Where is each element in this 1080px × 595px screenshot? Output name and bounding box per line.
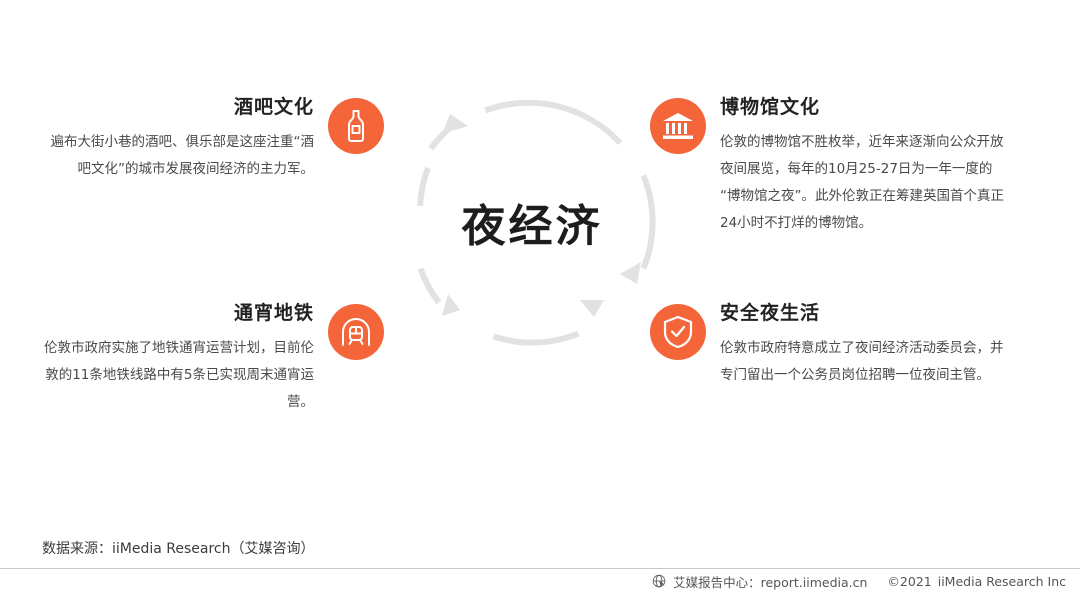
block-text: 博物馆文化 伦敦的博物馆不胜枚举，近年来逐渐向公众开放夜间展览，每年的10月25… <box>706 96 1010 237</box>
copyright-label: ©2021 <box>887 574 931 589</box>
block-heading: 博物馆文化 <box>720 96 1010 119</box>
block-text: 酒吧文化 遍布大街小巷的酒吧、俱乐部是这座注重“酒吧文化”的城市发展夜间经济的主… <box>42 96 328 183</box>
slide-root: 夜经济 酒吧文化 遍布大街小巷的酒吧、俱乐部是这座注重“酒吧文化”的城市发展夜间… <box>0 0 1080 595</box>
bottle-icon-badge <box>328 98 384 154</box>
block-body: 遍布大街小巷的酒吧、俱乐部是这座注重“酒吧文化”的城市发展夜间经济的主力军。 <box>42 129 314 183</box>
company-label: iiMedia Research Inc <box>938 574 1066 589</box>
footer-bar: 艾媒报告中心：report.iimedia.cn ©2021 iiMedia R… <box>652 572 1066 591</box>
block-heading: 安全夜生活 <box>720 302 1010 325</box>
block-body: 伦敦的博物馆不胜枚举，近年来逐渐向公众开放夜间展览，每年的10月25-27日为一… <box>720 129 1010 237</box>
block-museum-culture: 博物馆文化 伦敦的博物馆不胜枚举，近年来逐渐向公众开放夜间展览，每年的10月25… <box>650 96 1010 237</box>
shield-check-icon-badge <box>650 304 706 360</box>
block-all-night-subway: 通宵地铁 伦敦市政府实施了地铁通宵运营计划，目前伦敦的11条地铁线路中有5条已实… <box>42 302 387 416</box>
globe-cursor-icon <box>652 574 667 589</box>
block-text: 通宵地铁 伦敦市政府实施了地铁通宵运营计划，目前伦敦的11条地铁线路中有5条已实… <box>42 302 328 416</box>
museum-icon-badge <box>650 98 706 154</box>
center-ring: 夜经济 <box>398 88 666 356</box>
subway-icon-badge <box>328 304 384 360</box>
museum-icon <box>662 112 694 140</box>
center-title: 夜经济 <box>398 88 666 356</box>
footer-divider <box>0 568 1080 569</box>
block-safe-nightlife: 安全夜生活 伦敦市政府特意成立了夜间经济活动委员会，并专门留出一个公务员岗位招聘… <box>650 302 1010 389</box>
block-pub-culture: 酒吧文化 遍布大街小巷的酒吧、俱乐部是这座注重“酒吧文化”的城市发展夜间经济的主… <box>42 96 387 183</box>
block-text: 安全夜生活 伦敦市政府特意成立了夜间经济活动委员会，并专门留出一个公务员岗位招聘… <box>706 302 1010 389</box>
block-body: 伦敦市政府特意成立了夜间经济活动委员会，并专门留出一个公务员岗位招聘一位夜间主管… <box>720 335 1010 389</box>
block-body: 伦敦市政府实施了地铁通宵运营计划，目前伦敦的11条地铁线路中有5条已实现周末通宵… <box>42 335 314 416</box>
block-heading: 通宵地铁 <box>42 302 314 325</box>
data-source-label: 数据来源：iiMedia Research（艾媒咨询） <box>42 538 315 558</box>
block-heading: 酒吧文化 <box>42 96 314 119</box>
subway-icon <box>340 316 372 348</box>
bottle-icon <box>341 109 371 143</box>
shield-check-icon <box>663 315 693 349</box>
report-center-label: 艾媒报告中心：report.iimedia.cn <box>673 572 867 591</box>
